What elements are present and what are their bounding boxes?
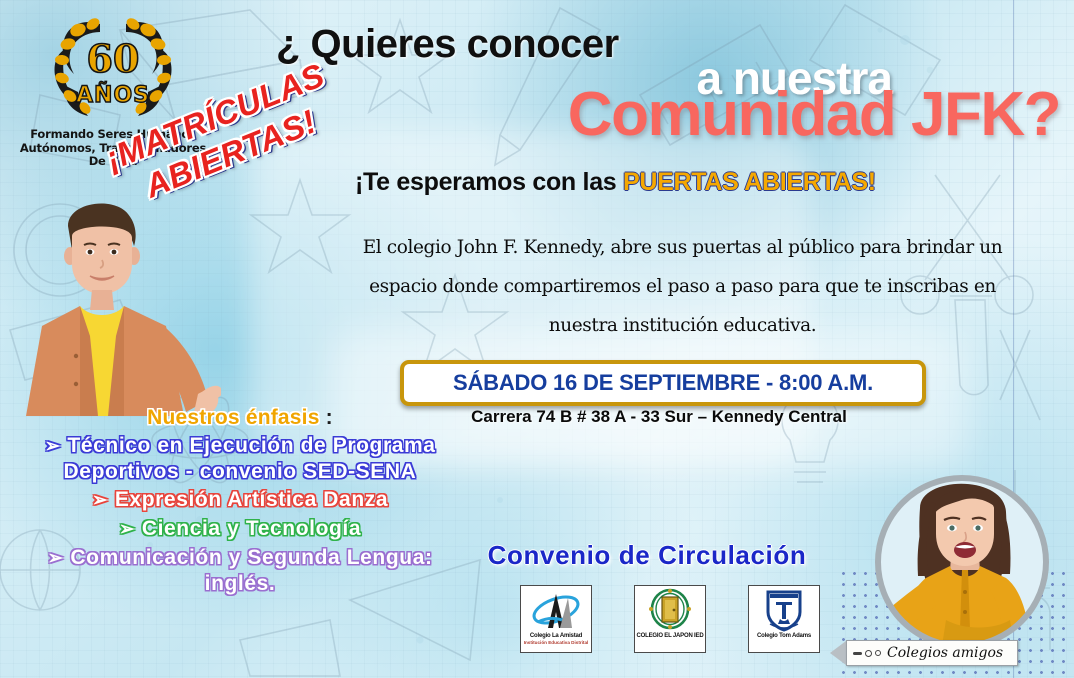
emphasis-item-3-label: Ciencia y Tecnología	[142, 517, 361, 540]
emphasis-item-2-label: Expresión Artística Danza	[115, 488, 388, 511]
friend-schools-label: Colegios amigos	[887, 645, 1003, 661]
small-circle-icon	[875, 650, 881, 656]
partner-sub-1: Institución Educativa Distrital	[524, 640, 589, 646]
partner-logo-row: Colegio La Amistad Institución Educativa…	[520, 585, 820, 653]
friend-schools-callout: Colegios amigos	[830, 640, 1018, 666]
emphasis-title: Nuestros énfasis :	[30, 406, 450, 430]
logo-tagline: Formando Seres Humanos Autónomos, Transf…	[18, 128, 208, 169]
poster-canvas: 60 AÑOS Formando Seres Humanos Autónomos…	[0, 0, 1074, 678]
partner-name-1: Colegio La Amistad	[530, 633, 582, 640]
el-japon-emblem-icon	[644, 588, 696, 632]
subheadline-highlight: PUERTAS ABIERTAS!	[623, 168, 876, 196]
emphasis-title-colon: :	[320, 406, 333, 429]
friend-schools-tag: Colegios amigos	[846, 640, 1018, 666]
chevron-bullet-icon: ➢	[92, 490, 109, 511]
teacher-woman-photo	[854, 470, 1054, 660]
emphasis-item-1: ➢ Técnico en Ejecución de Programa Depor…	[30, 433, 450, 484]
emphasis-item-1-label: Técnico en Ejecución de Programa Deporti…	[64, 434, 436, 483]
circle-icon	[865, 650, 872, 657]
emphasis-block: Nuestros énfasis : ➢ Técnico en Ejecució…	[30, 406, 450, 596]
chevron-bullet-icon: ➢	[119, 519, 136, 540]
sixty-years-wreath-icon: 60 AÑOS	[38, 8, 188, 126]
svg-text:60: 60	[87, 36, 140, 81]
event-date-banner: SÁBADO 16 DE SEPTIEMBRE - 8:00 A.M.	[400, 360, 926, 406]
la-amistad-emblem-icon	[530, 588, 582, 632]
partner-name-3: Colegio Tom Adams	[757, 633, 811, 640]
emphasis-item-2: ➢ Expresión Artística Danza	[30, 487, 450, 513]
emphasis-item-4-label: Comunicación y Segunda Lengua: inglés.	[70, 546, 432, 595]
partner-name-2: COLEGIO EL JAPON IED	[637, 633, 704, 640]
event-address: Carrera 74 B # 38 A - 33 Sur – Kennedy C…	[400, 407, 918, 427]
emphasis-item-4: ➢ Comunicación y Segunda Lengua: inglés.	[30, 545, 450, 596]
chevron-bullet-icon: ➢	[47, 548, 64, 569]
svg-text:AÑOS: AÑOS	[76, 82, 150, 108]
emphasis-item-3: ➢ Ciencia y Tecnología	[30, 516, 450, 542]
partnership-title: Convenio de Circulación	[462, 540, 832, 571]
subheadline-prefix: ¡Te esperamos con las	[355, 168, 623, 196]
left-arrow-icon	[830, 641, 846, 665]
headline-block: ¿ Quieres conocer a nuestra Comunidad JF…	[262, 22, 1062, 146]
emphasis-title-text: Nuestros énfasis	[147, 406, 319, 429]
institution-logo: 60 AÑOS Formando Seres Humanos Autónomos…	[18, 8, 208, 169]
dash-icon	[853, 652, 862, 655]
subheadline: ¡Te esperamos con las PUERTAS ABIERTAS!	[355, 167, 1055, 197]
body-paragraph: El colegio John F. Kennedy, abre sus pue…	[345, 228, 1020, 345]
partner-logo-la-amistad: Colegio La Amistad Institución Educativa…	[520, 585, 592, 653]
tom-adams-shield-icon	[758, 588, 810, 632]
headline-line-3: Comunidad JFK?	[262, 84, 1062, 146]
event-date-text: SÁBADO 16 DE SEPTIEMBRE - 8:00 A.M.	[453, 370, 873, 396]
partner-logo-tom-adams: Colegio Tom Adams	[748, 585, 820, 653]
chevron-bullet-icon: ➢	[44, 436, 61, 457]
partner-logo-el-japon: COLEGIO EL JAPON IED	[634, 585, 706, 653]
student-boy-photo	[6, 186, 221, 416]
